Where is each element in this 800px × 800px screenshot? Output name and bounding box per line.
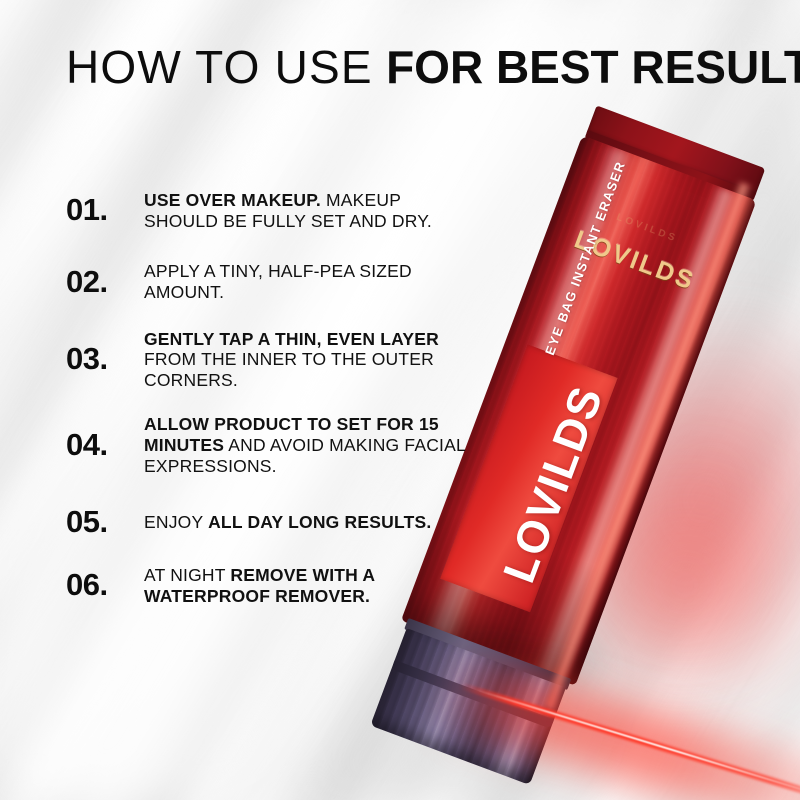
step-number: 06. (66, 569, 144, 602)
step-text: ENJOY ALL DAY LONG RESULTS. (144, 512, 470, 533)
infographic-canvas: LOVILDS LOVILDS LOVILDS EYE BAG INSTANT … (0, 0, 800, 800)
step-text-normal: APPLY A TINY, HALF-PEA SIZED AMOUNT. (144, 261, 412, 302)
title-bold-part: FOR BEST RESULTS (386, 41, 800, 93)
step-text: ALLOW PRODUCT TO SET FOR 15 MINUTES AND … (144, 414, 470, 476)
step-text: APPLY A TINY, HALF-PEA SIZED AMOUNT. (144, 261, 470, 302)
step-text: AT NIGHT REMOVE WITH A WATERPROOF REMOVE… (144, 565, 470, 606)
step-text: USE OVER MAKEUP. MAKEUP SHOULD BE FULLY … (144, 190, 470, 231)
step-number: 04. (66, 429, 144, 462)
how-to-use-step-list: 01.USE OVER MAKEUP. MAKEUP SHOULD BE FUL… (0, 190, 470, 606)
step-number: 01. (66, 194, 144, 227)
step-text-emphasis: USE OVER MAKEUP. (144, 190, 321, 210)
step-number: 05. (66, 506, 144, 539)
step-row: 02.APPLY A TINY, HALF-PEA SIZED AMOUNT. (0, 261, 470, 302)
step-text-emphasis: ALL DAY LONG RESULTS. (208, 512, 431, 532)
title-light-part: HOW TO USE (66, 41, 373, 93)
page-title: HOW TO USE FOR BEST RESULTS (66, 44, 800, 90)
step-number: 03. (66, 343, 144, 376)
step-row: 06.AT NIGHT REMOVE WITH A WATERPROOF REM… (0, 565, 470, 606)
step-text: GENTLY TAP A THIN, EVEN LAYER FROM THE I… (144, 329, 470, 391)
step-text-normal: FROM THE INNER TO THE OUTER CORNERS. (144, 349, 434, 390)
step-row: 05.ENJOY ALL DAY LONG RESULTS. (0, 506, 470, 539)
step-row: 04.ALLOW PRODUCT TO SET FOR 15 MINUTES A… (0, 414, 470, 476)
step-row: 01.USE OVER MAKEUP. MAKEUP SHOULD BE FUL… (0, 190, 470, 231)
step-number: 02. (66, 266, 144, 299)
step-text-emphasis: GENTLY TAP A THIN, EVEN LAYER (144, 329, 439, 349)
step-row: 03.GENTLY TAP A THIN, EVEN LAYER FROM TH… (0, 329, 470, 391)
step-text-normal: AT NIGHT (144, 565, 230, 585)
step-text-normal: ENJOY (144, 512, 208, 532)
